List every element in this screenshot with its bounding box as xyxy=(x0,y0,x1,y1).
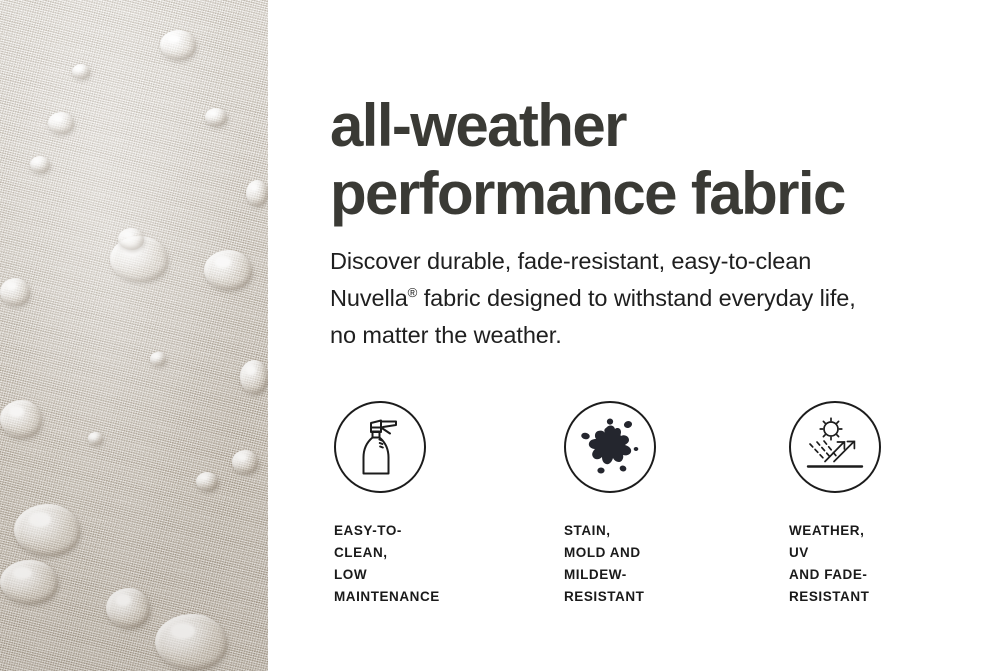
subcopy-line-3: no matter the weather. xyxy=(330,322,562,348)
feature-caption: WEATHER, UV AND FADE-RESISTANT xyxy=(789,520,881,608)
icon-circle-frame xyxy=(564,401,656,493)
registered-mark-icon: ® xyxy=(408,285,418,300)
fabric-photo-panel xyxy=(0,0,268,671)
content-column: all-weather performance fabric Discover … xyxy=(330,0,970,671)
photo-vignette xyxy=(0,0,268,671)
spray-bottle-icon xyxy=(352,416,408,478)
subcopy-line-2: fabric designed to withstand everyday li… xyxy=(417,285,855,311)
feature-caption: STAIN, MOLD AND MILDEW-RESISTANT xyxy=(564,520,656,608)
sun-uv-reflect-icon xyxy=(804,417,866,477)
feature-caption: EASY-TO-CLEAN, LOW MAINTENANCE xyxy=(334,520,440,608)
feature-easy-to-clean: EASY-TO-CLEAN, LOW MAINTENANCE xyxy=(334,401,426,493)
brand-name-nuvella: Nuvella xyxy=(330,285,408,311)
stain-splat-icon xyxy=(579,418,641,476)
feature-weather-uv-resistant: WEATHER, UV AND FADE-RESISTANT xyxy=(789,401,881,493)
feature-stain-resistant: STAIN, MOLD AND MILDEW-RESISTANT xyxy=(564,401,656,493)
subcopy-line-1: Discover durable, fade-resistant, easy-t… xyxy=(330,248,811,274)
all-weather-fabric-banner: all-weather performance fabric Discover … xyxy=(0,0,1005,671)
page-title: all-weather performance fabric xyxy=(330,92,845,228)
icon-circle-frame xyxy=(334,401,426,493)
subcopy-paragraph: Discover durable, fade-resistant, easy-t… xyxy=(330,243,940,354)
icon-circle-frame xyxy=(789,401,881,493)
